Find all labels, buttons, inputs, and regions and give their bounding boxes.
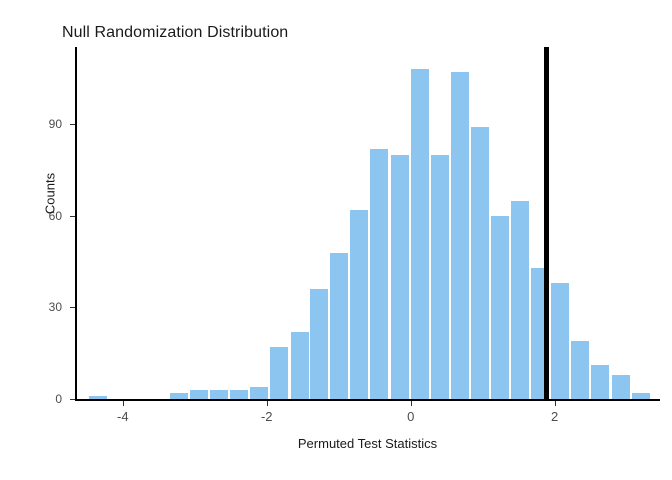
histogram-bar [310, 289, 328, 399]
histogram-bar [291, 332, 309, 399]
histogram-bar [471, 127, 489, 399]
histogram-bar [370, 149, 388, 399]
histogram-bar [330, 253, 348, 400]
x-axis-line [75, 399, 660, 401]
histogram-bar [451, 72, 469, 399]
y-tick-mark [70, 216, 75, 217]
plot-area [76, 48, 659, 399]
histogram-bar [350, 210, 368, 399]
histogram-bar [190, 390, 208, 399]
histogram-bar [210, 390, 228, 399]
y-tick-label: 90 [16, 117, 62, 131]
histogram-bar [591, 365, 609, 399]
observed-statistic-line [544, 47, 549, 399]
histogram-bar [511, 201, 529, 399]
x-tick-mark [555, 401, 556, 406]
histogram-bar [250, 387, 268, 399]
histogram-bar [491, 216, 509, 399]
y-tick-label: 0 [16, 392, 62, 406]
x-tick-label: -4 [117, 409, 129, 424]
histogram-bar [551, 283, 569, 399]
x-tick-mark [267, 401, 268, 406]
y-tick-mark [70, 399, 75, 400]
x-tick-label: 0 [407, 409, 414, 424]
y-axis-title: Counts [43, 134, 58, 254]
x-tick-label: -2 [261, 409, 273, 424]
bars-layer [76, 48, 659, 399]
x-tick-mark [123, 401, 124, 406]
histogram-bar [230, 390, 248, 399]
histogram-bar [571, 341, 589, 399]
x-tick-label: 2 [551, 409, 558, 424]
histogram-bar [411, 69, 429, 399]
y-tick-label: 30 [16, 300, 62, 314]
histogram-bar [270, 347, 288, 399]
chart-container: Null Randomization Distribution 0306090 … [0, 0, 672, 480]
x-tick-mark [411, 401, 412, 406]
y-tick-mark [70, 307, 75, 308]
y-axis-line [75, 47, 77, 400]
chart-title: Null Randomization Distribution [62, 24, 288, 42]
histogram-bar [391, 155, 409, 399]
histogram-bar [431, 155, 449, 399]
histogram-bar [612, 375, 630, 399]
y-tick-mark [70, 124, 75, 125]
x-axis-title: Permuted Test Statistics [76, 436, 659, 451]
